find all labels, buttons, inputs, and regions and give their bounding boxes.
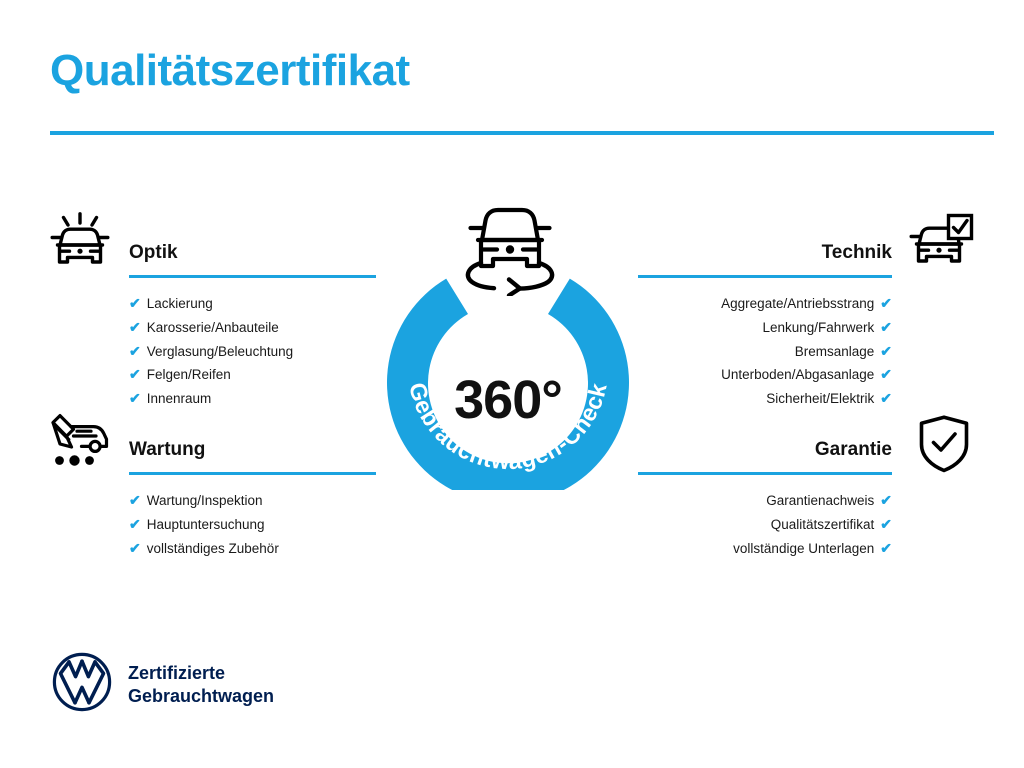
list-item-label: Karosserie/Anbauteile xyxy=(147,320,279,335)
list-item-label: vollständige Unterlagen xyxy=(733,541,874,556)
list-item: Unterboden/Abgasanlage✔ xyxy=(638,363,892,387)
list-item: vollständige Unterlagen✔ xyxy=(638,537,892,561)
list-item-label: Innenraum xyxy=(147,391,212,406)
list-item-label: Lackierung xyxy=(147,296,213,311)
vw-logo xyxy=(52,652,112,717)
list-item: ✔Karosserie/Anbauteile xyxy=(129,316,376,340)
section-item-list: Aggregate/Antriebsstrang✔ Lenkung/Fahrwe… xyxy=(638,278,892,411)
list-item: Bremsanlage✔ xyxy=(638,340,892,364)
title-divider xyxy=(50,131,994,135)
section-title: Garantie xyxy=(638,437,892,463)
list-item: ✔Felgen/Reifen xyxy=(129,363,376,387)
check-icon: ✔ xyxy=(880,366,892,382)
list-item: Lenkung/Fahrwerk✔ xyxy=(638,316,892,340)
list-item-label: Sicherheit/Elektrik xyxy=(766,391,874,406)
lockup-text: Zertifizierte Gebrauchtwagen xyxy=(128,662,274,708)
car-checkbox-icon xyxy=(908,212,974,279)
badge-center-value: 360° xyxy=(372,369,644,431)
section-technik: Technik Aggregate/Antriebsstrang✔ Lenkun… xyxy=(638,240,892,411)
list-item: ✔Lackierung xyxy=(129,292,376,316)
check-icon: ✔ xyxy=(129,295,141,311)
check-icon: ✔ xyxy=(880,343,892,359)
list-item: Garantienachweis✔ xyxy=(638,489,892,513)
list-item: ✔Verglasung/Beleuchtung xyxy=(129,340,376,364)
list-item: ✔Wartung/Inspektion xyxy=(129,489,376,513)
list-item-label: Verglasung/Beleuchtung xyxy=(147,344,293,359)
list-item: Sicherheit/Elektrik✔ xyxy=(638,387,892,411)
list-item: ✔Innenraum xyxy=(129,387,376,411)
section-divider xyxy=(638,275,892,278)
check-icon: ✔ xyxy=(129,492,141,508)
section-title: Technik xyxy=(638,240,892,266)
pen-car-service-icon xyxy=(47,410,113,477)
check-icon: ✔ xyxy=(129,390,141,406)
shield-check-icon xyxy=(916,414,972,479)
list-item-label: Qualitätszertifikat xyxy=(771,517,875,532)
check-icon: ✔ xyxy=(129,516,141,532)
check-icon: ✔ xyxy=(880,540,892,556)
vw-certified-lockup: Zertifizierte Gebrauchtwagen xyxy=(52,652,274,717)
list-item-label: Aggregate/Antriebsstrang xyxy=(721,296,874,311)
list-item: Qualitätszertifikat✔ xyxy=(638,513,892,537)
lockup-line-2: Gebrauchtwagen xyxy=(128,686,274,706)
certificate-page: Qualitätszertifikat xyxy=(0,0,1024,768)
check-icon: ✔ xyxy=(880,319,892,335)
list-item-label: Lenkung/Fahrwerk xyxy=(762,320,874,335)
check-icon: ✔ xyxy=(129,343,141,359)
section-divider xyxy=(638,472,892,475)
check-icon: ✔ xyxy=(880,492,892,508)
check-icon: ✔ xyxy=(129,366,141,382)
list-item-label: Hauptuntersuchung xyxy=(147,517,265,532)
list-item-label: Bremsanlage xyxy=(795,344,875,359)
list-item: ✔Hauptuntersuchung xyxy=(129,513,376,537)
section-item-list: ✔Lackierung ✔Karosserie/Anbauteile ✔Verg… xyxy=(129,278,376,411)
check-icon: ✔ xyxy=(880,516,892,532)
check-icon: ✔ xyxy=(129,319,141,335)
list-item: ✔vollständiges Zubehör xyxy=(129,537,376,561)
list-item-label: vollständiges Zubehör xyxy=(147,541,279,556)
section-garantie: Garantie Garantienachweis✔ Qualitätszert… xyxy=(638,437,892,560)
list-item: Aggregate/Antriebsstrang✔ xyxy=(638,292,892,316)
car-shine-icon xyxy=(47,212,113,279)
section-title: Optik xyxy=(129,240,376,266)
check-icon: ✔ xyxy=(129,540,141,556)
section-divider xyxy=(129,275,376,278)
list-item-label: Garantienachweis xyxy=(766,493,874,508)
section-header: Optik xyxy=(129,240,376,278)
section-item-list: ✔Wartung/Inspektion ✔Hauptuntersuchung ✔… xyxy=(129,475,376,560)
section-wartung: Wartung ✔Wartung/Inspektion ✔Hauptunters… xyxy=(129,437,376,560)
section-header: Technik xyxy=(638,240,892,278)
360-check-badge: Gebrauchtwagen-Check 360° xyxy=(372,200,652,490)
check-icon: ✔ xyxy=(880,295,892,311)
list-item-label: Felgen/Reifen xyxy=(147,367,231,382)
list-item-label: Wartung/Inspektion xyxy=(147,493,263,508)
section-optik: Optik ✔Lackierung ✔Karosserie/Anbauteile… xyxy=(129,240,376,411)
section-header: Wartung xyxy=(129,437,376,475)
check-icon: ✔ xyxy=(880,390,892,406)
section-item-list: Garantienachweis✔ Qualitätszertifikat✔ v… xyxy=(638,475,892,560)
list-item-label: Unterboden/Abgasanlage xyxy=(721,367,874,382)
section-title: Wartung xyxy=(129,437,376,463)
page-title: Qualitätszertifikat xyxy=(50,47,410,95)
section-divider xyxy=(129,472,376,475)
lockup-line-1: Zertifizierte xyxy=(128,663,225,683)
section-header: Garantie xyxy=(638,437,892,475)
